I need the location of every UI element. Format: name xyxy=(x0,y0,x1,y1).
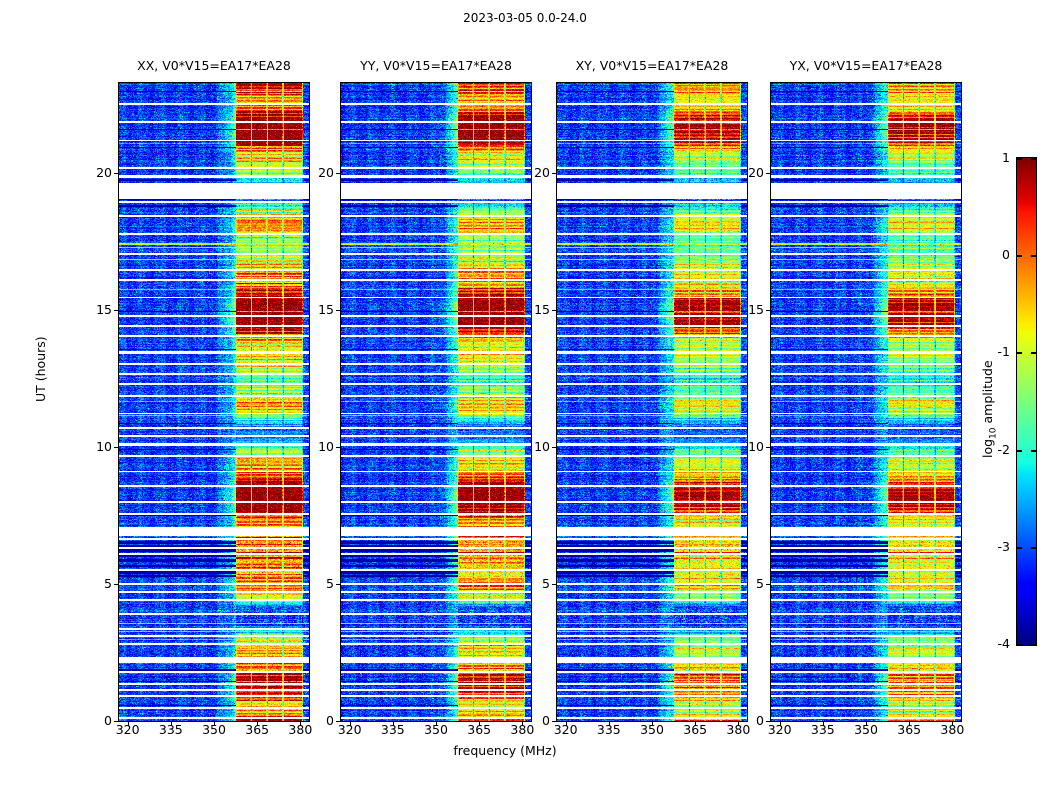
x-axis-label: frequency (MHz) xyxy=(0,743,1010,758)
y-tick-mark xyxy=(336,447,340,448)
x-tick-mark xyxy=(479,722,480,726)
panel-title-yx: YX, V0*V15=EA17*EA28 xyxy=(730,59,1002,73)
x-tick-mark xyxy=(300,722,301,726)
y-tick-label: 20 xyxy=(534,167,550,179)
y-tick-mark xyxy=(336,173,340,174)
colorbar-tick-mark xyxy=(1031,450,1036,452)
y-tick-label: 15 xyxy=(534,304,550,316)
x-tick-mark xyxy=(780,722,781,726)
y-tick-label: 15 xyxy=(318,304,334,316)
y-tick-label: 5 xyxy=(104,578,112,590)
x-tick-mark xyxy=(738,722,739,726)
x-tick-mark xyxy=(257,722,258,726)
colorbar-tick-mark xyxy=(1017,644,1022,646)
y-tick-label: 10 xyxy=(96,441,112,453)
y-tick-label: 10 xyxy=(534,441,550,453)
y-tick-label: 15 xyxy=(96,304,112,316)
figure-suptitle: 2023-03-05 0.0-24.0 xyxy=(0,11,1050,25)
y-tick-mark xyxy=(552,310,556,311)
y-tick-label: 20 xyxy=(318,167,334,179)
y-tick-label: 0 xyxy=(542,715,550,727)
y-tick-mark xyxy=(766,173,770,174)
x-tick-mark xyxy=(171,722,172,726)
y-tick-mark xyxy=(552,447,556,448)
y-tick-label: 0 xyxy=(756,715,764,727)
colorbar-tick-mark xyxy=(1017,547,1022,549)
y-tick-mark xyxy=(766,447,770,448)
x-tick-mark xyxy=(952,722,953,726)
x-tick-mark xyxy=(823,722,824,726)
colorbar-tick-label: 1 xyxy=(1002,152,1010,164)
y-tick-mark xyxy=(114,173,118,174)
colorbar-tick-label: -3 xyxy=(998,541,1010,553)
y-tick-mark xyxy=(336,310,340,311)
x-tick-mark xyxy=(866,722,867,726)
x-tick-mark xyxy=(909,722,910,726)
y-tick-label: 15 xyxy=(748,304,764,316)
panel-xy[interactable]: XY, V0*V15=EA17*EA28 0510152032033535036… xyxy=(556,82,748,722)
y-tick-label: 20 xyxy=(96,167,112,179)
figure-canvas: 2023-03-05 0.0-24.0 UT (hours) frequency… xyxy=(0,0,1050,800)
colorbar-tick-mark xyxy=(1017,450,1022,452)
colorbar-tick-mark xyxy=(1031,158,1036,160)
y-axis-label: UT (hours) xyxy=(33,336,48,402)
y-tick-mark xyxy=(766,310,770,311)
panel-yy[interactable]: YY, V0*V15=EA17*EA28 0510152032033535036… xyxy=(340,82,532,722)
panel-frame-xy xyxy=(556,82,748,722)
x-tick-mark xyxy=(652,722,653,726)
colorbar-label: log10 amplitude xyxy=(980,360,999,458)
x-tick-mark xyxy=(609,722,610,726)
y-tick-mark xyxy=(552,584,556,585)
y-tick-mark xyxy=(766,584,770,585)
colorbar-tick-label: -2 xyxy=(998,444,1010,456)
x-tick-mark xyxy=(350,722,351,726)
x-tick-mark xyxy=(522,722,523,726)
y-tick-label: 20 xyxy=(748,167,764,179)
x-tick-mark xyxy=(695,722,696,726)
y-tick-mark xyxy=(552,173,556,174)
colorbar-tick-label: 0 xyxy=(1002,249,1010,261)
colorbar-tick-mark xyxy=(1017,158,1022,160)
x-tick-mark xyxy=(128,722,129,726)
colorbar-tick-mark xyxy=(1031,352,1036,354)
colorbar-tick-mark xyxy=(1031,644,1036,646)
y-tick-label: 10 xyxy=(748,441,764,453)
colorbar-tick-mark xyxy=(1031,255,1036,257)
y-tick-label: 10 xyxy=(318,441,334,453)
panel-yx[interactable]: YX, V0*V15=EA17*EA28 0510152032033535036… xyxy=(770,82,962,722)
panel-frame-yy xyxy=(340,82,532,722)
x-tick-mark xyxy=(214,722,215,726)
y-tick-label: 5 xyxy=(326,578,334,590)
colorbar-tick-mark xyxy=(1017,352,1022,354)
y-tick-mark xyxy=(114,447,118,448)
y-tick-mark xyxy=(114,310,118,311)
panel-frame-xx xyxy=(118,82,310,722)
y-tick-mark xyxy=(114,584,118,585)
colorbar-frame xyxy=(1016,157,1037,646)
panel-frame-yx xyxy=(770,82,962,722)
y-tick-label: 5 xyxy=(756,578,764,590)
y-tick-label: 0 xyxy=(104,715,112,727)
colorbar-tick-label: -4 xyxy=(998,638,1010,650)
x-tick-mark xyxy=(393,722,394,726)
colorbar-tick-mark xyxy=(1017,255,1022,257)
y-tick-mark xyxy=(336,584,340,585)
x-tick-mark xyxy=(436,722,437,726)
x-tick-mark xyxy=(566,722,567,726)
y-tick-label: 0 xyxy=(326,715,334,727)
colorbar-tick-label: -1 xyxy=(998,346,1010,358)
colorbar[interactable]: -4-3-2-101 xyxy=(1016,157,1037,646)
colorbar-tick-mark xyxy=(1031,547,1036,549)
y-tick-label: 5 xyxy=(542,578,550,590)
panel-xx[interactable]: XX, V0*V15=EA17*EA28 0510152032033535036… xyxy=(118,82,310,722)
